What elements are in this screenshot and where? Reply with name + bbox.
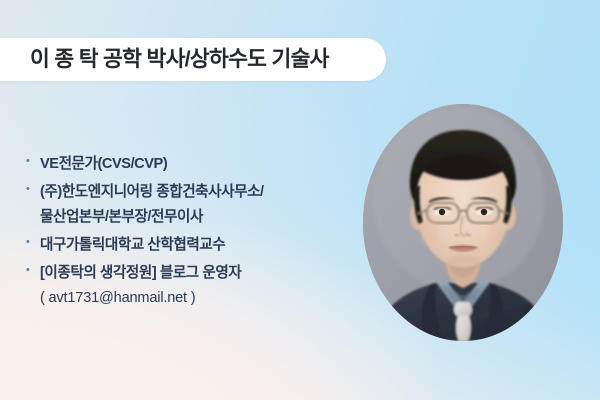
profile-slide: 이 종 탁 공학 박사/상하수도 기술사 • VE전문가(CVS/CVP) • … <box>0 0 600 400</box>
list-item-label: (주)한도엔지니어링 종합건축사사무소/ <box>40 184 264 200</box>
list-item-body: VE전문가(CVS/CVP) <box>40 152 356 177</box>
bullet-icon: • <box>26 233 40 242</box>
bullet-icon: • <box>26 261 40 270</box>
bullet-icon: • <box>26 152 40 161</box>
list-item-label: 대구가톨릭대학교 산학협력교수 <box>40 237 225 253</box>
list-item: • 대구가톨릭대학교 산학협력교수 <box>26 233 356 258</box>
page-title: 이 종 탁 공학 박사/상하수도 기술사 <box>30 49 329 71</box>
bullet-icon: • <box>26 180 40 189</box>
list-item: • VE전문가(CVS/CVP) <box>26 152 356 177</box>
portrait-photo <box>363 104 563 341</box>
list-item-body: 대구가톨릭대학교 산학협력교수 <box>40 233 356 258</box>
list-item-label: [이종탁의 생각정원] 블로그 운영자 <box>40 265 241 281</box>
list-item-label-wrap: 물산업본부/본부장/전무이사 <box>40 209 203 225</box>
title-banner: 이 종 탁 공학 박사/상하수도 기술사 <box>0 38 386 81</box>
list-item-label: VE전문가(CVS/CVP) <box>40 156 167 172</box>
list-item-body: (주)한도엔지니어링 종합건축사사무소/ 물산업본부/본부장/전무이사 <box>40 180 356 230</box>
avatar <box>363 104 563 341</box>
list-item: • [이종탁의 생각정원] 블로그 운영자 ( avt1731@hanmail.… <box>26 261 356 311</box>
list-item: • (주)한도엔지니어링 종합건축사사무소/ 물산업본부/본부장/전무이사 <box>26 180 356 230</box>
list-item-body: [이종탁의 생각정원] 블로그 운영자 ( avt1731@hanmail.ne… <box>40 261 356 311</box>
contact-email[interactable]: ( avt1731@hanmail.net ) <box>40 290 195 306</box>
credentials-list: • VE전문가(CVS/CVP) • (주)한도엔지니어링 종합건축사사무소/ … <box>26 152 356 314</box>
